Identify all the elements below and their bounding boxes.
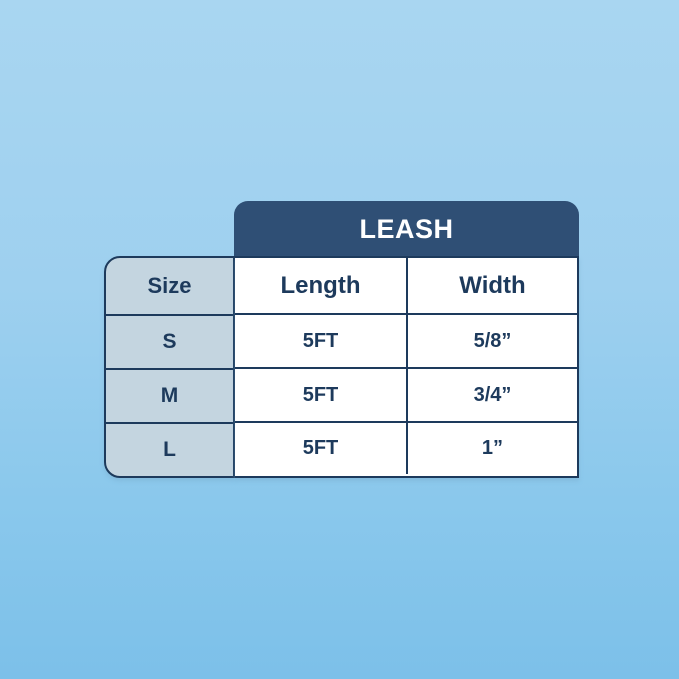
table-row: 5FT 3/4” [235, 367, 577, 421]
column-header-size: Size [106, 258, 233, 314]
chart-title-banner: LEASH [234, 201, 579, 257]
width-cell-m: 3/4” [406, 369, 577, 421]
width-cell-s: 5/8” [406, 315, 577, 367]
column-header-width: Width [406, 258, 577, 313]
table-row: 5FT 1” [235, 421, 577, 474]
size-cell-l: L [106, 422, 233, 475]
chart-title: LEASH [359, 216, 453, 243]
measurements-block: Length Width 5FT 5/8” 5FT 3/4” 5FT 1” [235, 256, 579, 478]
size-cell-m: M [106, 368, 233, 422]
size-column: Size S M L [104, 256, 235, 478]
length-cell-s: 5FT [235, 315, 406, 367]
width-cell-l: 1” [406, 423, 577, 474]
table-header-row: Length Width [235, 258, 577, 313]
length-cell-l: 5FT [235, 423, 406, 474]
length-cell-m: 5FT [235, 369, 406, 421]
size-chart: LEASH Size S M L Length Width 5FT 5/8” 5… [104, 201, 579, 478]
column-header-length: Length [235, 258, 406, 313]
table-row: 5FT 5/8” [235, 313, 577, 367]
size-cell-s: S [106, 314, 233, 368]
